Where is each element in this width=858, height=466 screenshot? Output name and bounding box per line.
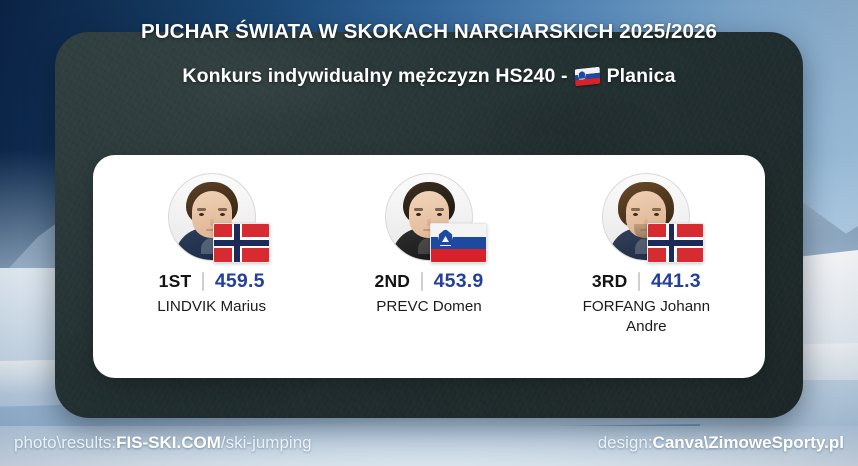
footer-source: photo\results: FIS-SKI.COM /ski-jumping xyxy=(14,433,312,453)
rank-score-row-2: 2ND 453.9 xyxy=(324,270,534,293)
athlete-name: PREVC Domen xyxy=(324,297,534,317)
footer-design-credit[interactable]: Canva\ZimoweSporty.pl xyxy=(653,433,844,453)
rank-score-divider xyxy=(202,272,204,291)
subtitle-event-text: Konkurs indywidualny mężczyzn HS240 - xyxy=(182,65,567,88)
subtitle-venue-text: Planica xyxy=(607,65,676,88)
avatar-wrapper-1 xyxy=(168,173,256,261)
slovenia-flag-icon xyxy=(574,67,600,87)
footer-design: design: Canva\ZimoweSporty.pl xyxy=(598,433,844,453)
podium-results-card: 1ST 459.5 LINDVIK Marius xyxy=(93,155,765,378)
norway-flag-icon xyxy=(213,223,270,263)
footer-source-prefix: photo\results: xyxy=(14,433,116,453)
avatar-wrapper-2 xyxy=(385,173,473,261)
footer-design-prefix: design: xyxy=(598,433,653,453)
rank-score-divider xyxy=(638,272,640,291)
score-value: 441.3 xyxy=(651,270,701,293)
podium-entry-1[interactable]: 1ST 459.5 LINDVIK Marius xyxy=(107,173,317,317)
podium-entry-2[interactable]: 2ND 453.9 PREVC Domen xyxy=(324,173,534,317)
slovenia-flag-icon xyxy=(430,223,487,263)
footer-credits: photo\results: FIS-SKI.COM /ski-jumping … xyxy=(0,430,858,456)
athlete-name: LINDVIK Marius xyxy=(107,297,317,317)
norway-flag-icon xyxy=(647,223,704,263)
rank-label: 1ST xyxy=(159,271,192,292)
rank-score-row-1: 1ST 459.5 xyxy=(107,270,317,293)
rank-score-row-3: 3RD 441.3 xyxy=(541,270,751,293)
footer-source-site[interactable]: FIS-SKI.COM xyxy=(116,433,221,453)
podium-entry-3[interactable]: 3RD 441.3 FORFANG Johann Andre xyxy=(541,173,751,337)
avatar-wrapper-3 xyxy=(602,173,690,261)
score-value: 459.5 xyxy=(215,270,265,293)
page-title: PUCHAR ŚWIATA W SKOKACH NARCIARSKICH 202… xyxy=(0,20,858,44)
rank-label: 2ND xyxy=(375,271,411,292)
page-subtitle: Konkurs indywidualny mężczyzn HS240 - Pl… xyxy=(0,65,858,88)
rank-label: 3RD xyxy=(592,271,628,292)
footer-source-path: /ski-jumping xyxy=(221,433,312,453)
rank-score-divider xyxy=(421,272,423,291)
athlete-name: FORFANG Johann Andre xyxy=(541,297,751,337)
headings-block: PUCHAR ŚWIATA W SKOKACH NARCIARSKICH 202… xyxy=(0,20,858,88)
score-value: 453.9 xyxy=(434,270,484,293)
